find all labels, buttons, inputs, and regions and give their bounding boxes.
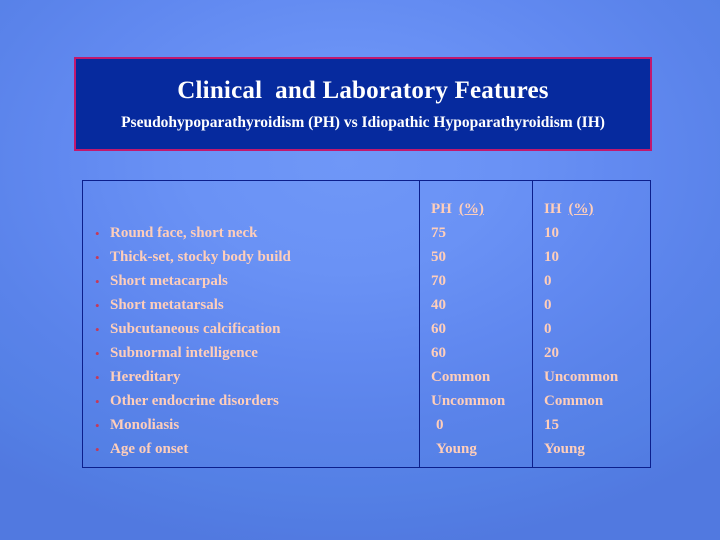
feature-label: Thick-set, stocky body build: [110, 249, 291, 266]
ih-value: 20: [544, 341, 660, 365]
table-row: •Short metatarsals: [93, 293, 429, 317]
bullet-icon: •: [93, 299, 110, 312]
slide-canvas: Clinical and Laboratory Features Pseudoh…: [0, 0, 720, 540]
table-row: •Subnormal intelligence: [93, 341, 429, 365]
bullet-icon: •: [93, 347, 110, 360]
ih-value: Uncommon: [544, 365, 660, 389]
table-column-ph: PH(%) 755070406060CommonUncommon0Young: [419, 181, 532, 467]
features-table: •Round face, short neck•Thick-set, stock…: [82, 180, 651, 468]
bullet-icon: •: [93, 419, 110, 432]
table-row: •Round face, short neck: [93, 221, 429, 245]
ih-value: 15: [544, 413, 660, 437]
table-row: •Hereditary: [93, 365, 429, 389]
feature-label: Subnormal intelligence: [110, 345, 258, 362]
bullet-icon: •: [93, 443, 110, 456]
ih-value: 0: [544, 293, 660, 317]
bullet-icon: •: [93, 275, 110, 288]
ph-value: 40: [431, 293, 543, 317]
ih-value: Common: [544, 389, 660, 413]
ih-column-body: IH(%) 101000020UncommonCommon15Young: [533, 181, 660, 461]
ph-value: 50: [431, 245, 543, 269]
ih-value: 0: [544, 269, 660, 293]
ph-value: Young: [431, 437, 543, 461]
ph-column-body: PH(%) 755070406060CommonUncommon0Young: [420, 181, 543, 461]
page-title: Clinical and Laboratory Features: [177, 77, 548, 105]
table-row: •Monoliasis: [93, 413, 429, 437]
feature-label: Hereditary: [110, 369, 181, 386]
bullet-icon: •: [93, 395, 110, 408]
table-row: •Other endocrine disorders: [93, 389, 429, 413]
table-column-features: •Round face, short neck•Thick-set, stock…: [83, 181, 419, 467]
feature-label: Monoliasis: [110, 417, 179, 434]
ph-value: 70: [431, 269, 543, 293]
feature-label: Short metacarpals: [110, 273, 228, 290]
feature-label: Age of onset: [110, 441, 188, 458]
ih-values: 101000020UncommonCommon15Young: [544, 221, 660, 461]
ph-value: Uncommon: [431, 389, 543, 413]
bullet-icon: •: [93, 323, 110, 336]
feature-label: Subcutaneous calcification: [110, 321, 280, 338]
title-box: Clinical and Laboratory Features Pseudoh…: [74, 57, 652, 151]
ih-header-label: IH: [544, 201, 562, 217]
bullet-icon: •: [93, 251, 110, 264]
feature-label: Other endocrine disorders: [110, 393, 279, 410]
bullet-icon: •: [93, 227, 110, 240]
ih-value: 0: [544, 317, 660, 341]
table-row: •Short metacarpals: [93, 269, 429, 293]
ph-value: 0: [431, 413, 543, 437]
table-column-ih: IH(%) 101000020UncommonCommon15Young: [532, 181, 649, 467]
ph-header-unit: (%): [459, 201, 484, 217]
ih-column-header: IH(%): [544, 197, 660, 221]
table-row: •Subcutaneous calcification: [93, 317, 429, 341]
ph-column-header: PH(%): [431, 197, 543, 221]
table-row: •Thick-set, stocky body build: [93, 245, 429, 269]
feature-label: Short metatarsals: [110, 297, 224, 314]
ih-value: 10: [544, 221, 660, 245]
ih-value: Young: [544, 437, 660, 461]
ph-value: Common: [431, 365, 543, 389]
ph-value: 60: [431, 317, 543, 341]
ph-header-label: PH: [431, 201, 452, 217]
features-list: •Round face, short neck•Thick-set, stock…: [83, 181, 429, 461]
ph-value: 60: [431, 341, 543, 365]
table-row: •Age of onset: [93, 437, 429, 461]
ph-values: 755070406060CommonUncommon0Young: [431, 221, 543, 461]
feature-label: Round face, short neck: [110, 225, 258, 242]
ph-value: 75: [431, 221, 543, 245]
bullet-icon: •: [93, 371, 110, 384]
ih-header-unit: (%): [569, 201, 594, 217]
ih-value: 10: [544, 245, 660, 269]
page-subtitle: Pseudohypoparathyroidism (PH) vs Idiopat…: [121, 114, 605, 131]
